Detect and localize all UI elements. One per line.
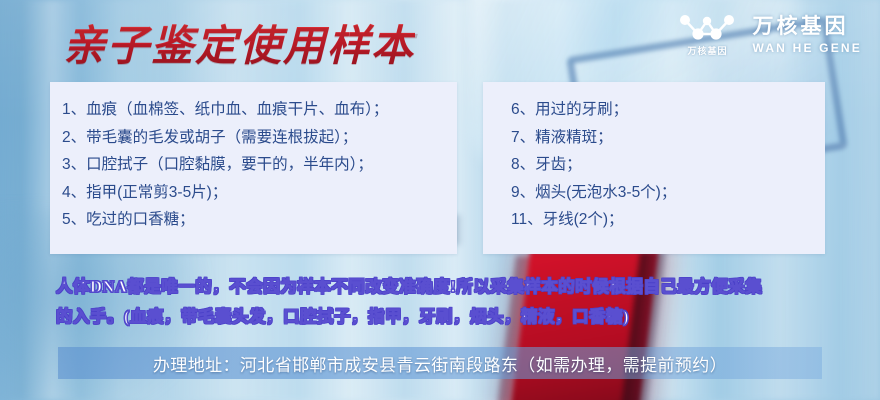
list-item: 9、烟头(无泡水3-5个)；: [511, 179, 825, 207]
dna-molecule-icon: [676, 14, 738, 42]
logo-mark-caption: 万核基因: [687, 44, 727, 57]
logo-wordmark: 万核基因 WAN HE GENE: [752, 16, 862, 55]
logo-name-en: WAN HE GENE: [752, 42, 862, 55]
list-item: 8、牙齿；: [511, 151, 825, 179]
list-item: 2、带毛囊的毛发或胡子（需要连根拔起）；: [62, 124, 457, 152]
note-paragraph: 人体DNA都是唯一的，不会因为样本不同改变准确度!所以采集样本的时候根据自己最方…: [56, 272, 846, 332]
sample-panel-right: 6、用过的牙刷； 7、精液精斑； 8、牙齿； 9、烟头(无泡水3-5个)； 11…: [483, 82, 825, 254]
address-bar: 办理地址：河北省邯郸市成安县青云街南段路东（如需办理，需提前预约）: [58, 347, 822, 379]
list-item: 5、吃过的口香糖；: [62, 206, 457, 234]
logo-mark: 万核基因: [676, 14, 738, 57]
list-item: 6、用过的牙刷；: [511, 96, 825, 124]
page-title: 亲子鉴定使用样本: [63, 12, 415, 73]
list-item: 7、精液精斑；: [511, 124, 825, 152]
note-line-2: 的入手。(血痕，带毛囊头发，口腔拭子，指甲，牙刷，烟头，精液，口香糖): [56, 302, 846, 332]
note-line-1: 人体DNA都是唯一的，不会因为样本不同改变准确度!所以采集样本的时候根据自己最方…: [56, 272, 846, 302]
sample-list-left: 1、血痕（血棉签、纸巾血、血痕干片、血布）； 2、带毛囊的毛发或胡子（需要连根拔…: [50, 82, 457, 234]
sample-panel-left: 1、血痕（血棉签、纸巾血、血痕干片、血布）； 2、带毛囊的毛发或胡子（需要连根拔…: [50, 82, 457, 254]
list-item: 11、牙线(2个)；: [511, 206, 825, 234]
list-item: 1、血痕（血棉签、纸巾血、血痕干片、血布）；: [62, 96, 457, 124]
brand-logo: 万核基因 万核基因 WAN HE GENE: [676, 14, 862, 57]
list-item: 3、口腔拭子（口腔黏膜，要干的，半年内）；: [62, 151, 457, 179]
list-item: 4、指甲(正常剪3-5片)；: [62, 179, 457, 207]
promo-banner: 亲子鉴定使用样本: [0, 0, 880, 400]
logo-name-cn: 万核基因: [752, 16, 862, 39]
address-text: 办理地址：河北省邯郸市成安县青云街南段路东（如需办理，需提前预约）: [153, 351, 727, 376]
sample-list-right: 6、用过的牙刷； 7、精液精斑； 8、牙齿； 9、烟头(无泡水3-5个)； 11…: [483, 82, 825, 234]
